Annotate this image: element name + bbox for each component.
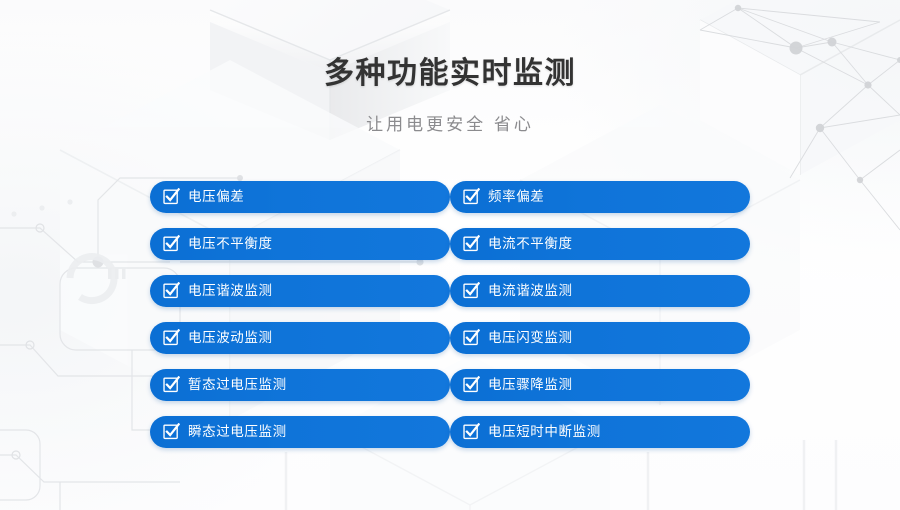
feature-label: 电流谐波监测 (488, 284, 573, 298)
feature-cell: 电流不平衡度 (450, 228, 750, 260)
feature-pill-voltage-harmonic[interactable]: 电压谐波监测 (150, 275, 450, 307)
feature-pill-transient-overvoltage[interactable]: 暂态过电压监测 (150, 369, 450, 401)
feature-label: 瞬态过电压监测 (188, 425, 287, 439)
feature-label: 电压谐波监测 (188, 284, 273, 298)
feature-pill-current-unbalance[interactable]: 电流不平衡度 (450, 228, 750, 260)
circuit-bars (108, 268, 126, 279)
feature-label: 暂态过电压监测 (188, 378, 287, 392)
feature-cell: 暂态过电压监测 (150, 369, 450, 401)
poster-canvas: 多种功能实时监测 让用电更安全 省心 电压偏差 频率偏差 (0, 0, 900, 510)
feature-label: 电压短时中断监测 (488, 425, 601, 439)
checkbox-checked-icon (463, 188, 480, 205)
feature-cell: 电压骤降监测 (450, 369, 750, 401)
feature-label: 电压不平衡度 (188, 237, 273, 251)
feature-label: 频率偏差 (488, 190, 544, 204)
feature-cell: 电压谐波监测 (150, 275, 450, 307)
feature-cell: 电流谐波监测 (450, 275, 750, 307)
checkbox-checked-icon (463, 423, 480, 440)
feature-label: 电压偏差 (188, 190, 244, 204)
feature-cell: 瞬态过电压监测 (150, 416, 450, 448)
checkbox-checked-icon (163, 376, 180, 393)
feature-cell: 电压偏差 (150, 181, 450, 213)
page-subtitle: 让用电更安全 省心 (0, 92, 900, 135)
feature-cell: 电压闪变监测 (450, 322, 750, 354)
feature-label: 电压波动监测 (188, 331, 273, 345)
feature-pill-voltage-deviation[interactable]: 电压偏差 (150, 181, 450, 213)
feature-pill-frequency-deviation[interactable]: 频率偏差 (450, 181, 750, 213)
feature-label: 电压骤降监测 (488, 378, 573, 392)
checkbox-checked-icon (163, 188, 180, 205)
feature-pill-voltage-unbalance[interactable]: 电压不平衡度 (150, 228, 450, 260)
feature-pill-voltage-interruption[interactable]: 电压短时中断监测 (450, 416, 750, 448)
header: 多种功能实时监测 让用电更安全 省心 (0, 0, 900, 135)
feature-cell: 电压波动监测 (150, 322, 450, 354)
checkbox-checked-icon (463, 329, 480, 346)
feature-pill-instantaneous-overvoltage[interactable]: 瞬态过电压监测 (150, 416, 450, 448)
page-title: 多种功能实时监测 (0, 0, 900, 92)
checkbox-checked-icon (463, 235, 480, 252)
feature-pill-voltage-sag[interactable]: 电压骤降监测 (450, 369, 750, 401)
feature-pill-current-harmonic[interactable]: 电流谐波监测 (450, 275, 750, 307)
checkbox-checked-icon (163, 423, 180, 440)
feature-pill-voltage-fluctuation[interactable]: 电压波动监测 (150, 322, 450, 354)
checkbox-checked-icon (463, 282, 480, 299)
checkbox-checked-icon (163, 282, 180, 299)
feature-pill-voltage-flicker[interactable]: 电压闪变监测 (450, 322, 750, 354)
feature-label: 电流不平衡度 (488, 237, 573, 251)
checkbox-checked-icon (163, 235, 180, 252)
feature-cell: 电压不平衡度 (150, 228, 450, 260)
checkbox-checked-icon (463, 376, 480, 393)
feature-cell: 电压短时中断监测 (450, 416, 750, 448)
feature-cell: 频率偏差 (450, 181, 750, 213)
feature-grid: 电压偏差 频率偏差 电压不平衡度 (150, 181, 750, 448)
checkbox-checked-icon (163, 329, 180, 346)
feature-label: 电压闪变监测 (488, 331, 573, 345)
